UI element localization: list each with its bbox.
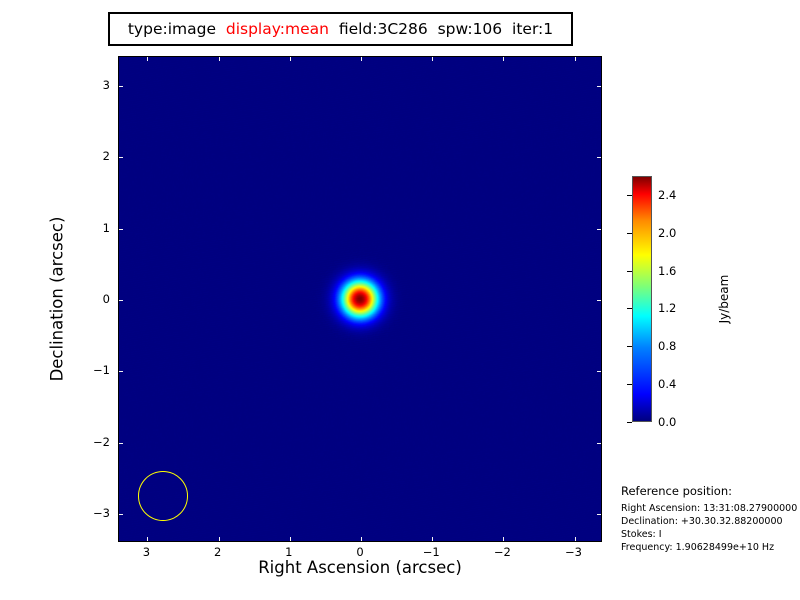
reference-right-ascension: Right Ascension: 13:31:08.27900000 bbox=[621, 502, 800, 515]
y-tick-mark bbox=[119, 86, 123, 87]
x-tick-mark bbox=[575, 57, 576, 61]
y-tick-label: 2 bbox=[88, 149, 110, 163]
y-axis-label: Declination (arcsec) bbox=[48, 199, 67, 399]
colorbar-tick-mark bbox=[627, 384, 632, 385]
title-segment-type: type:image bbox=[128, 20, 216, 38]
y-tick-mark bbox=[597, 86, 601, 87]
y-tick-mark bbox=[119, 514, 123, 515]
y-tick-mark bbox=[597, 371, 601, 372]
reference-declination: Declination: +30.30.32.88200000 bbox=[621, 515, 800, 528]
y-tick-label: 3 bbox=[88, 78, 110, 92]
x-tick-label: −3 bbox=[565, 545, 582, 559]
x-tick-mark bbox=[503, 537, 504, 541]
colorbar-tick-label: 0.8 bbox=[658, 339, 676, 353]
colorbar-tick-label: 2.4 bbox=[658, 188, 676, 202]
title-segment-iter: iter:1 bbox=[512, 20, 553, 38]
colorbar-tick-mark bbox=[627, 195, 632, 196]
colorbar-tick-label: 1.2 bbox=[658, 301, 676, 315]
x-tick-label: 1 bbox=[285, 545, 292, 559]
sky-image-heatmap bbox=[119, 57, 601, 541]
x-tick-mark bbox=[503, 57, 504, 61]
x-tick-label: 0 bbox=[356, 545, 363, 559]
reference-position-heading: Reference position: bbox=[621, 484, 800, 498]
x-tick-mark bbox=[147, 57, 148, 61]
synthesized-beam-marker bbox=[138, 471, 188, 521]
colorbar-tick-label: 2.0 bbox=[658, 226, 676, 240]
colorbar-tick-label: 1.6 bbox=[658, 264, 676, 278]
x-tick-mark bbox=[147, 537, 148, 541]
title-segment-field: field:3C286 bbox=[339, 20, 428, 38]
title-spacer-3 bbox=[428, 20, 438, 38]
colorbar-container[interactable]: 0.00.40.81.21.62.02.4 bbox=[632, 176, 652, 422]
sky-image-axes[interactable] bbox=[118, 56, 602, 542]
x-tick-mark bbox=[361, 537, 362, 541]
y-tick-label: −1 bbox=[88, 363, 110, 377]
y-tick-mark bbox=[597, 300, 601, 301]
y-tick-mark bbox=[119, 157, 123, 158]
x-axis-label: Right Ascension (arcsec) bbox=[118, 558, 602, 577]
x-tick-mark bbox=[290, 537, 291, 541]
reference-frequency: Frequency: 1.90628499e+10 Hz bbox=[621, 541, 800, 554]
colorbar-unit-label: Jy/beam bbox=[717, 239, 731, 359]
title-spacer-4 bbox=[502, 20, 512, 38]
x-tick-mark bbox=[219, 537, 220, 541]
colorbar-gradient bbox=[632, 176, 652, 422]
x-tick-mark bbox=[432, 57, 433, 61]
x-tick-label: −2 bbox=[494, 545, 511, 559]
x-tick-mark bbox=[432, 537, 433, 541]
title-segment-spw: spw:106 bbox=[438, 20, 503, 38]
title-spacer-2 bbox=[329, 20, 339, 38]
y-tick-label: 0 bbox=[88, 292, 110, 306]
reference-position-block: Reference position: Right Ascension: 13:… bbox=[621, 484, 800, 554]
y-tick-mark bbox=[597, 229, 601, 230]
x-tick-label: −1 bbox=[423, 545, 440, 559]
x-tick-mark bbox=[290, 57, 291, 61]
y-tick-mark bbox=[119, 300, 123, 301]
reference-stokes: Stokes: I bbox=[621, 528, 800, 541]
y-tick-label: −2 bbox=[88, 435, 110, 449]
title-spacer-1 bbox=[216, 20, 226, 38]
x-tick-label: 3 bbox=[143, 545, 150, 559]
x-tick-label: 2 bbox=[214, 545, 221, 559]
y-tick-label: −3 bbox=[88, 506, 110, 520]
colorbar-tick-label: 0.0 bbox=[658, 415, 676, 429]
colorbar-tick-mark bbox=[627, 346, 632, 347]
title-segment-display: display:mean bbox=[226, 20, 329, 38]
x-tick-mark bbox=[575, 537, 576, 541]
colorbar-tick-mark bbox=[627, 308, 632, 309]
y-tick-mark bbox=[119, 229, 123, 230]
y-tick-label: 1 bbox=[88, 221, 110, 235]
colorbar-tick-mark bbox=[627, 271, 632, 272]
y-tick-mark bbox=[119, 443, 123, 444]
y-tick-mark bbox=[597, 443, 601, 444]
colorbar-tick-label: 0.4 bbox=[658, 377, 676, 391]
y-tick-mark bbox=[119, 371, 123, 372]
y-tick-mark bbox=[597, 157, 601, 158]
x-tick-mark bbox=[219, 57, 220, 61]
colorbar-tick-mark bbox=[627, 233, 632, 234]
colorbar-tick-mark bbox=[627, 422, 632, 423]
x-tick-mark bbox=[361, 57, 362, 61]
y-tick-mark bbox=[597, 514, 601, 515]
plot-title-box: type:image display:mean field:3C286 spw:… bbox=[108, 12, 573, 46]
